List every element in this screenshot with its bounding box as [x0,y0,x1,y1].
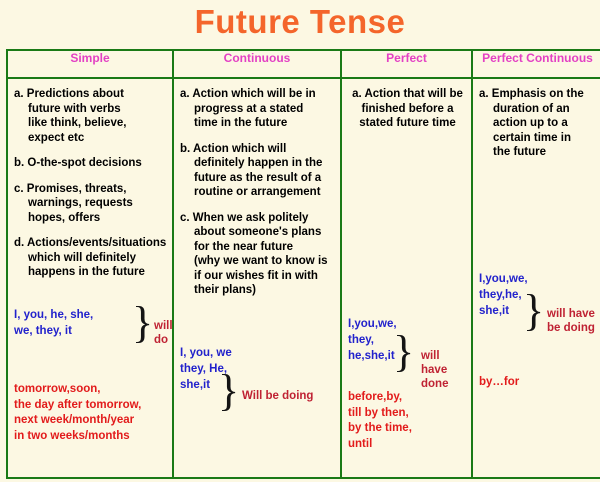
time-expressions: by…for [479,375,519,391]
usage-item: a. Action that will be finished before a… [348,87,467,131]
usage-list-perfect: a. Action that will be finished before a… [342,79,471,131]
example-block-perfect-continuous: I,you,we, they,he, she,it } will have be… [479,271,598,319]
column-header-continuous: Continuous [173,50,341,78]
brace-icon: } [132,301,153,345]
usage-item: c. Promises, threats, warnings, requests… [14,182,168,226]
usage-item: b. Action which will definitely happen i… [180,142,336,200]
column-body-simple: a. Predictions about future with verbs l… [7,78,173,478]
pronoun-list: I,you,we, they,he, she,it [479,271,528,319]
auxiliary-form: will do [154,319,173,347]
column-header-perfect-continuous: Perfect Continuous [472,50,600,78]
usage-item: a. Emphasis on the duration of an action… [479,87,598,160]
example-block-continuous: I, you, we they, He, she,it } Will be do… [180,345,336,393]
auxiliary-form: will have be doing [547,307,595,335]
future-tense-page: Future Tense Simple Continuous Perfect P… [0,0,600,482]
usage-item: a. Action which will be in progress at a… [180,87,336,131]
usage-list-continuous: a. Action which will be in progress at a… [174,79,340,298]
example-row: I, you, we they, He, she,it } Will be do… [180,345,336,393]
auxiliary-form: Will be doing [242,389,313,403]
time-expressions: tomorrow,soon, the day after tomorrow, n… [14,382,141,444]
usage-list-simple: a. Predictions about future with verbs l… [8,79,172,280]
brace-icon: } [218,369,239,413]
example-row: I,you,we, they, he,she,it } will have do… [348,316,467,364]
column-body-perfect-continuous: a. Emphasis on the duration of an action… [472,78,600,478]
column-header-simple: Simple [7,50,173,78]
table-header-row: Simple Continuous Perfect Perfect Contin… [7,50,600,78]
usage-item: d. Actions/events/situations which will … [14,236,168,280]
column-body-perfect: a. Action that will be finished before a… [341,78,472,478]
auxiliary-form: will have done [421,349,467,391]
example-block-perfect: I,you,we, they, he,she,it } will have do… [348,316,467,364]
column-header-perfect: Perfect [341,50,472,78]
usage-list-perfect-continuous: a. Emphasis on the duration of an action… [473,79,600,160]
example-block-simple: I, you, he, she, we, they, it } will do [14,307,168,339]
usage-item: c. When we ask politely about someone's … [180,211,336,298]
brace-icon: } [393,330,414,374]
column-body-continuous: a. Action which will be in progress at a… [173,78,341,478]
pronoun-list: I,you,we, they, he,she,it [348,316,397,364]
usage-item: b. O-the-spot decisions [14,156,168,171]
tense-table: Simple Continuous Perfect Perfect Contin… [6,49,600,479]
usage-item: a. Predictions about future with verbs l… [14,87,168,145]
page-title: Future Tense [0,2,600,42]
time-expressions: before,by, till by then, by the time, un… [348,390,412,452]
example-row: I,you,we, they,he, she,it } will have be… [479,271,598,319]
example-row: I, you, he, she, we, they, it } will do [14,307,168,339]
pronoun-list: I, you, he, she, we, they, it [14,307,93,339]
table-body-row: a. Predictions about future with verbs l… [7,78,600,478]
brace-icon: } [523,289,544,333]
